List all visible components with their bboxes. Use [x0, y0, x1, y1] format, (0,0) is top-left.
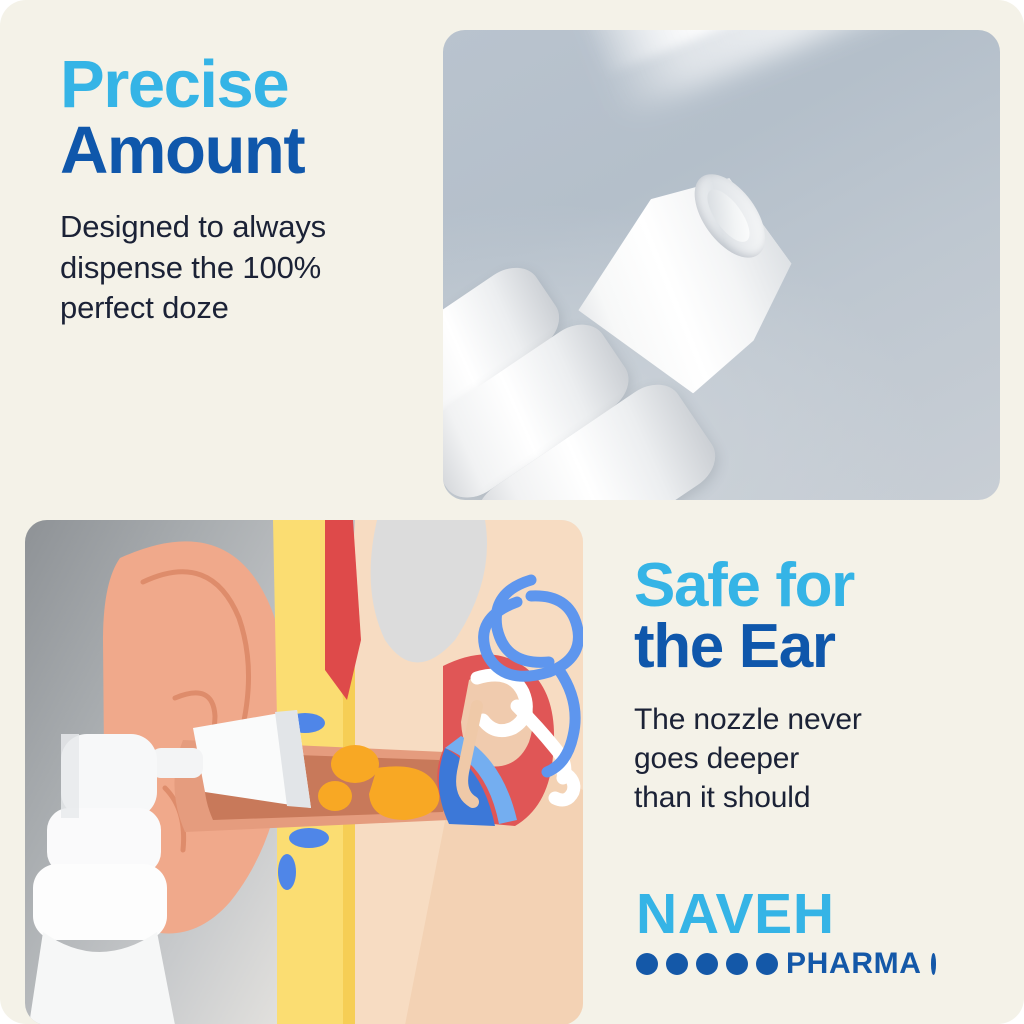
headline-safe-for-the-ear: Safe for the Ear — [634, 556, 964, 678]
headline-line-2: the Ear — [634, 617, 964, 678]
nozzle-stem — [151, 748, 203, 778]
body-line-2: dispense the 100% — [60, 248, 410, 288]
brand-logo: NAVEH PHARMA — [636, 886, 936, 979]
logo-wordmark: NAVEH — [636, 886, 936, 943]
feature-block-safe-for-the-ear: Safe for the Ear The nozzle never goes d… — [634, 556, 964, 817]
logo-trailing-dot — [931, 953, 936, 975]
logo-dot — [696, 953, 718, 975]
headline-line-2: Amount — [60, 118, 410, 184]
logo-dot — [666, 953, 688, 975]
body-copy-precise-amount: Designed to always dispense the 100% per… — [60, 207, 410, 328]
body-line-3: than it should — [634, 778, 964, 817]
logo-dot — [636, 953, 658, 975]
logo-lockup: PHARMA — [636, 949, 936, 979]
body-line-1: Designed to always — [60, 207, 410, 247]
mist-core-streak-icon — [583, 30, 1000, 76]
earwax-blob-2 — [318, 781, 352, 811]
panel-ear-anatomy — [25, 520, 583, 1024]
headline-line-1: Safe for — [634, 556, 964, 617]
logo-dot-row — [636, 953, 778, 975]
logo-dot — [756, 953, 778, 975]
headline-precise-amount: Precise Amount — [60, 52, 410, 183]
feature-block-precise-amount: Precise Amount Designed to always dispen… — [60, 52, 410, 328]
marrow-vessel-2 — [289, 828, 329, 848]
pump-highlight — [61, 734, 79, 818]
bottle-shoulder — [29, 932, 175, 1024]
mist-plume-icon — [563, 30, 1000, 119]
ear-anatomy-icon — [25, 520, 583, 1024]
earwax-blob-1 — [331, 745, 379, 783]
logo-subtext: PHARMA — [786, 949, 922, 979]
infographic-canvas: Precise Amount Designed to always dispen… — [0, 0, 1024, 1024]
marrow-vessel-3 — [278, 854, 296, 890]
headline-line-1: Precise — [60, 52, 410, 118]
body-line-1: The nozzle never — [634, 700, 964, 739]
pump-head-group — [29, 734, 175, 1024]
logo-dot — [726, 953, 748, 975]
body-line-3: perfect doze — [60, 288, 410, 328]
body-copy-safe-for-the-ear: The nozzle never goes deeper than it sho… — [634, 700, 964, 817]
panel-spray-photo — [443, 30, 1000, 500]
body-line-2: goes deeper — [634, 739, 964, 778]
pump-ring-bottom — [33, 864, 167, 940]
